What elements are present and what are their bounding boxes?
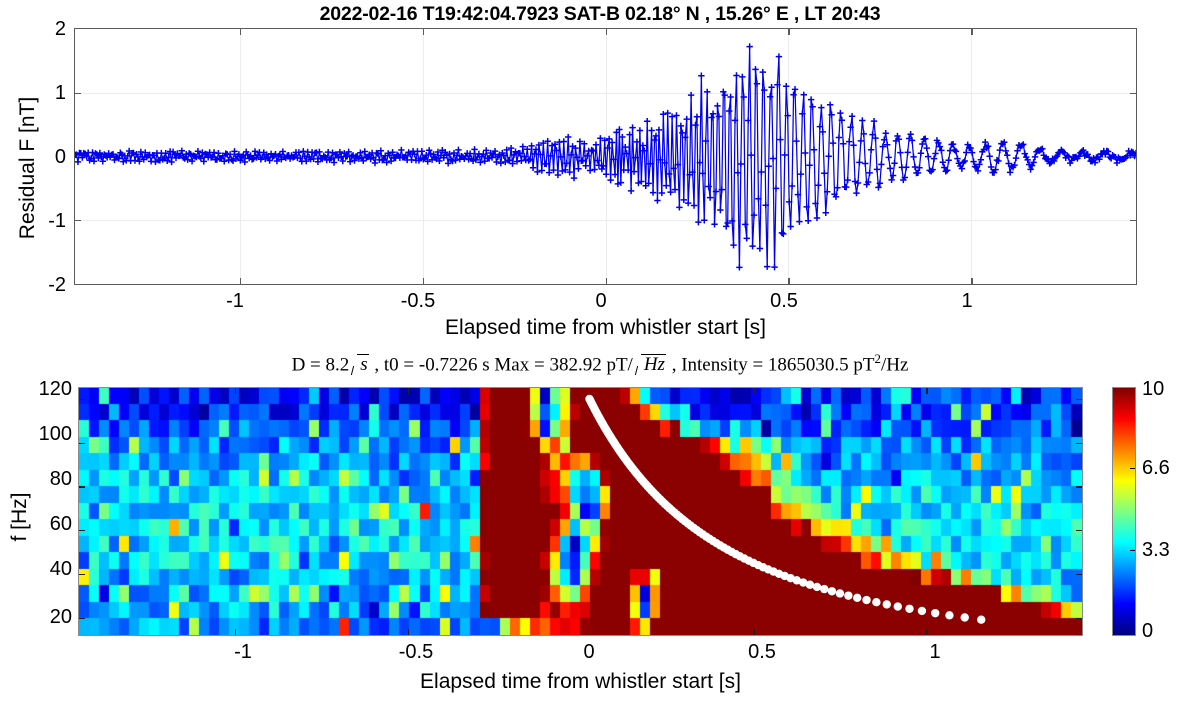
dispersion-dot xyxy=(853,594,861,602)
spectrogram-subtitle: D = 8.2s , t0 = -0.7226 s Max = 382.92 p… xyxy=(0,351,1200,376)
spectrogram-ytickmark xyxy=(1076,618,1082,619)
waveform-xtick-1: 1 xyxy=(932,290,1002,313)
subtitle-intensity-denominator: /Hz xyxy=(881,354,908,375)
spectrogram-axes xyxy=(78,387,1083,636)
dispersion-dot xyxy=(836,589,844,597)
spectrogram-ylabel: f [Hz] xyxy=(8,437,32,597)
spectrogram-xtick-0: 0 xyxy=(554,641,624,664)
subtitle-max-label: Max = xyxy=(494,354,544,375)
colorbar-label-10: 10 xyxy=(1142,378,1164,401)
spectrogram-xtick-1: 1 xyxy=(900,641,970,664)
spectrogram-ytickmark xyxy=(79,399,85,400)
subtitle-max-value: 382.92 xyxy=(549,354,601,375)
dispersion-dot xyxy=(813,583,821,591)
subtitle-t0-label: , t0 = xyxy=(374,354,414,375)
waveform-xtick-05: 0.5 xyxy=(749,290,819,313)
spectrogram-ytickmark xyxy=(79,618,85,619)
colorbar-gradient xyxy=(1113,388,1135,635)
spectrogram-xtickmark xyxy=(753,388,754,394)
subtitle-max-unit-den: Hz xyxy=(643,354,666,375)
subtitle-intensity-value: 1865030.5 xyxy=(768,354,849,375)
dispersion-dot xyxy=(883,600,891,608)
waveform-xtick-0: 0 xyxy=(566,290,636,313)
colorbar xyxy=(1112,387,1136,636)
spectrogram-ytickmark xyxy=(1076,443,1082,444)
dispersion-dot xyxy=(820,585,828,593)
spectrogram-ytickmark xyxy=(79,574,85,575)
subtitle-intensity-label: , Intensity = xyxy=(672,354,763,375)
waveform-ylabel: Residual F [nT] xyxy=(16,58,40,278)
spectrogram-xtickmark xyxy=(235,388,236,394)
dispersion-dot xyxy=(862,596,870,604)
colorbar-tickmark-33 xyxy=(1130,550,1135,551)
waveform-xlabel: Elapsed time from whistler start [s] xyxy=(74,316,1137,340)
spectrogram-xtick-05: 0.5 xyxy=(727,641,797,664)
spectrogram-ytickmark xyxy=(1076,530,1082,531)
dispersion-dot xyxy=(918,607,926,615)
spectrogram-xtickmark xyxy=(926,388,927,394)
subtitle-d-unit: s xyxy=(359,354,368,375)
spectrogram-xtick-neg05: -0.5 xyxy=(381,641,451,664)
subtitle-d-value: 8.2 xyxy=(326,354,350,375)
dispersion-dot xyxy=(945,611,953,619)
figure-title: 2022-02-16 T19:42:04.7923 SAT-B 02.18° N… xyxy=(0,3,1200,26)
colorbar-tickmark-66 xyxy=(1130,468,1135,469)
spectrogram-ytickmark xyxy=(79,486,85,487)
subtitle-d-label: D = xyxy=(292,354,321,375)
waveform-line xyxy=(75,47,1136,268)
sqrt-s-symbol: s xyxy=(350,354,368,376)
waveform-xtick-neg05: -0.5 xyxy=(383,290,453,313)
dispersion-dot xyxy=(931,609,939,617)
spectrogram-ytickmark xyxy=(79,443,85,444)
spectrogram-ytickmark xyxy=(1076,399,1082,400)
spectrogram-xtickmark xyxy=(581,629,582,635)
spectrogram-xtickmark xyxy=(235,629,236,635)
spectrogram-xtickmark xyxy=(581,388,582,394)
spectrogram-xtickmark xyxy=(926,629,927,635)
spectrogram-ytickmark xyxy=(1076,574,1082,575)
colorbar-label-66: 6.6 xyxy=(1142,457,1170,480)
subtitle-intensity-unit: pT xyxy=(853,354,874,375)
sqrt-hz-symbol: Hz xyxy=(634,354,666,376)
spectrogram-xtickmark xyxy=(408,629,409,635)
waveform-axes xyxy=(74,28,1137,285)
spectrogram-xtick-neg1: -1 xyxy=(208,641,278,664)
waveform-ytick-2: 2 xyxy=(6,18,66,41)
dispersion-dot xyxy=(844,591,852,599)
subtitle-max-unit-num: pT xyxy=(606,354,627,375)
colorbar-label-0: 0 xyxy=(1142,620,1153,643)
dispersion-dot xyxy=(977,616,985,624)
dispersion-dot xyxy=(828,587,836,595)
spectrogram-xtickmark xyxy=(753,629,754,635)
spectrogram-ytickmark xyxy=(1076,486,1082,487)
subtitle-t0-value: -0.7226 s xyxy=(419,354,490,375)
spectrogram-ytickmark xyxy=(79,530,85,531)
slash-icon: / xyxy=(628,354,633,375)
dispersion-dot xyxy=(872,598,880,606)
spectrogram-xlabel: Elapsed time from whistler start [s] xyxy=(78,670,1083,694)
dispersion-dot xyxy=(905,605,913,613)
figure-root: 2022-02-16 T19:42:04.7923 SAT-B 02.18° N… xyxy=(0,0,1200,704)
spectrogram-ytick-120: 120 xyxy=(0,378,72,401)
spectrogram-ytick-20: 20 xyxy=(0,606,72,629)
spectrogram-xtickmark xyxy=(408,388,409,394)
waveform-xtick-neg1: -1 xyxy=(200,290,270,313)
dispersion-dot xyxy=(894,602,902,610)
dispersion-dots-overlay xyxy=(79,388,1082,635)
dispersion-dot xyxy=(961,613,969,621)
colorbar-label-33: 3.3 xyxy=(1142,539,1170,562)
waveform-plot xyxy=(75,29,1136,284)
